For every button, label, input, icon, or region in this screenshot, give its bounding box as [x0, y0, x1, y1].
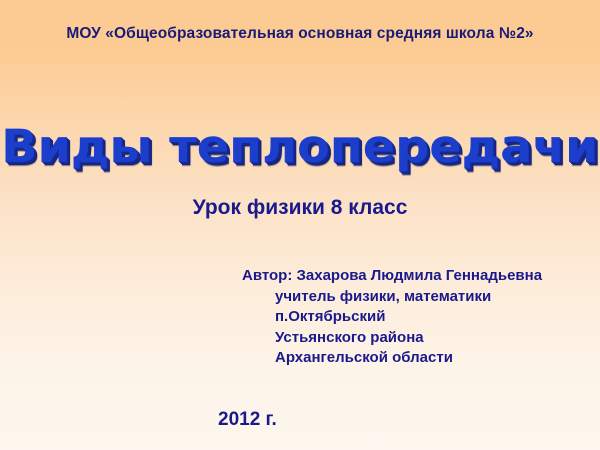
slide-subtitle: Урок физики 8 класс: [0, 196, 600, 220]
page-title: Виды теплопередачи: [1, 118, 598, 176]
author-block: Автор: Захарова Людмила Геннадьевна учит…: [242, 266, 542, 369]
slide-title-container: Виды теплопередачи: [0, 118, 600, 180]
author-line-name: Автор: Захарова Людмила Геннадьевна: [242, 266, 542, 287]
slide-year: 2012 г.: [218, 409, 277, 431]
author-line-region: Архангельской области: [242, 348, 542, 369]
author-line-district: Устьянского района: [242, 328, 542, 349]
presentation-slide: МОУ «Общеобразовательная основная средня…: [0, 0, 600, 450]
school-name-header: МОУ «Общеобразовательная основная средня…: [0, 25, 600, 43]
author-line-settlement: п.Октябрьский: [242, 307, 542, 328]
author-line-position: учитель физики, математики: [242, 287, 542, 308]
